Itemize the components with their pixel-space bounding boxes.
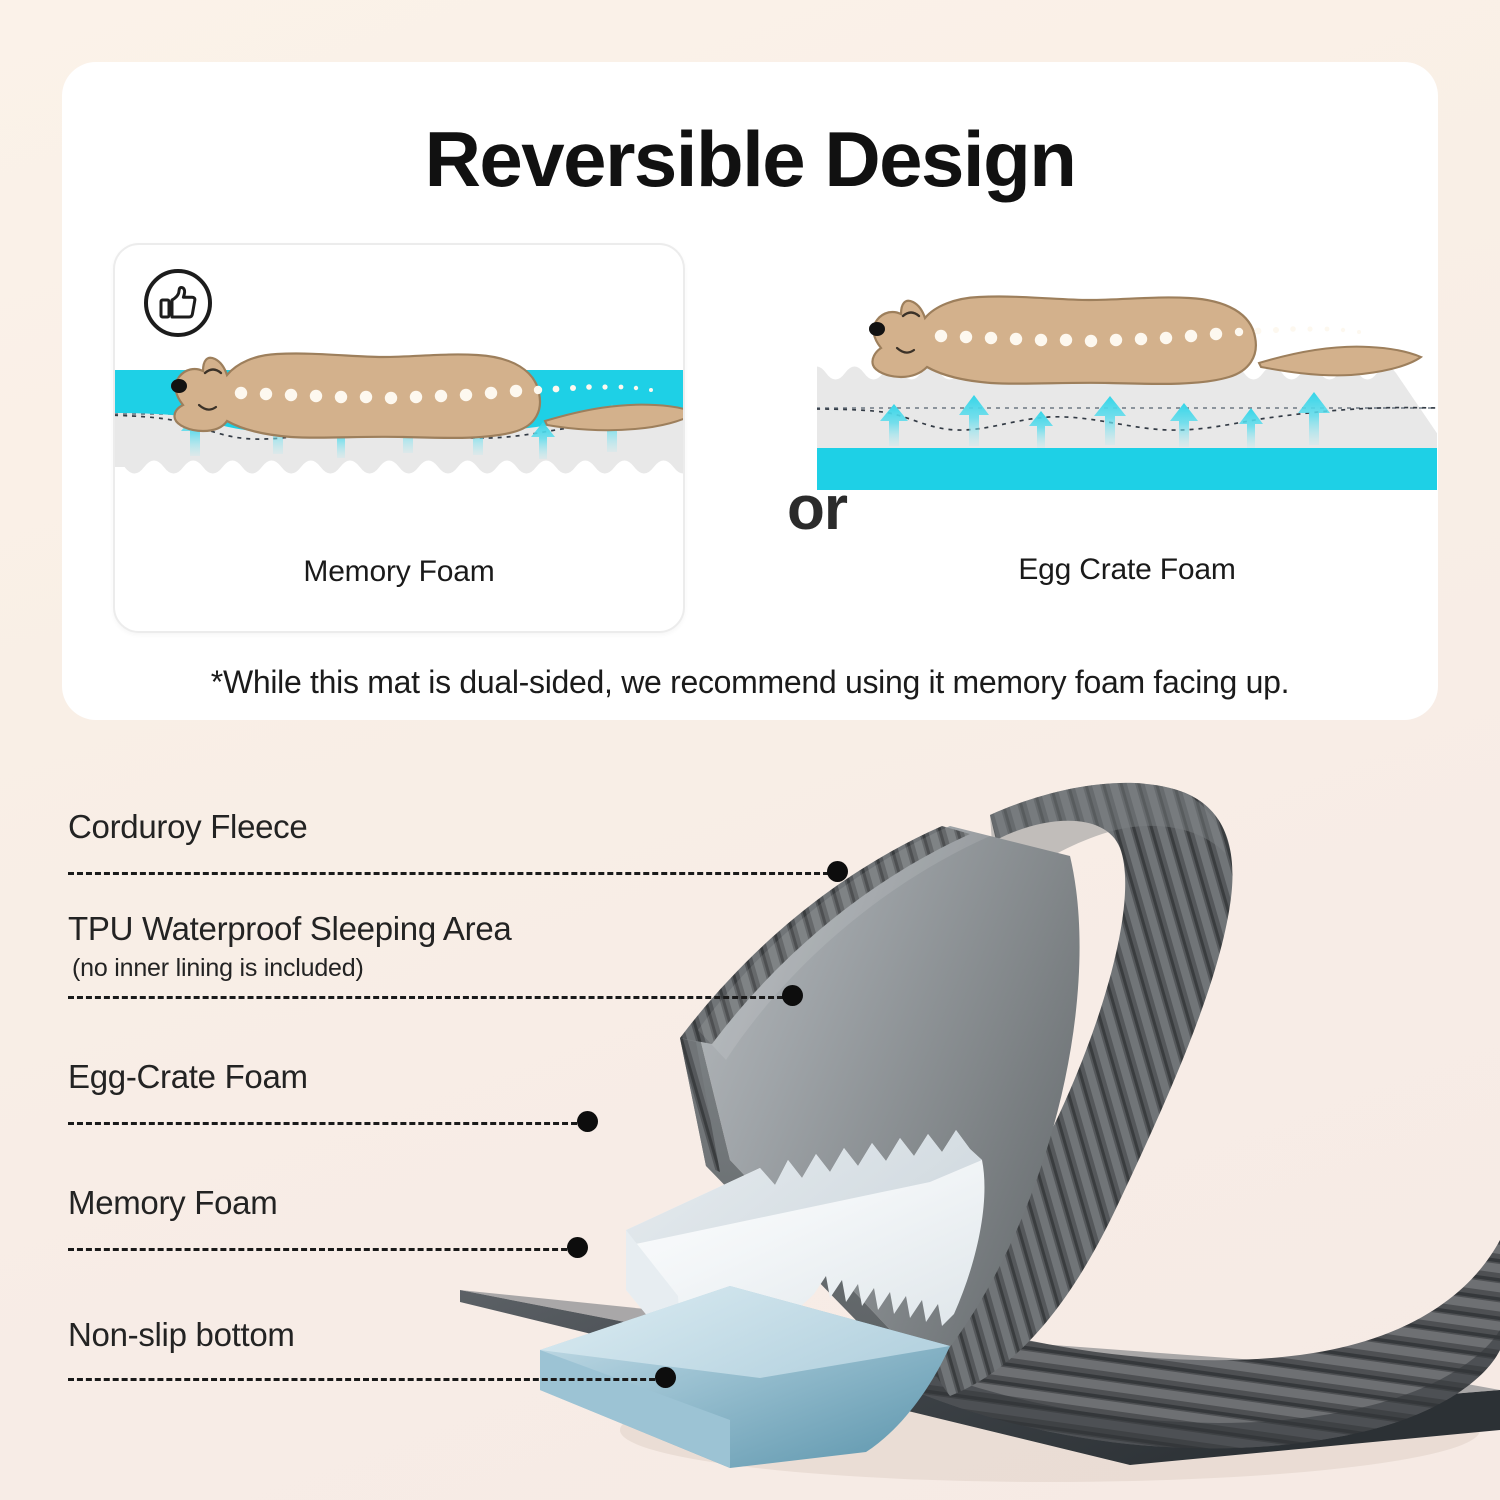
thumbs-up-icon [144,269,212,337]
exploded-view-labels: Corduroy Fleece TPU Waterproof Sleeping … [0,0,1500,1500]
layer-label-egg-crate-foam: Egg-Crate Foam [68,1058,308,1096]
leader-dot-tpu-waterproof [782,985,803,1006]
leader-dot-memory-foam [567,1237,588,1258]
layer-label-non-slip-bottom: Non-slip bottom [68,1316,295,1354]
leader-line-memory-foam [68,1248,576,1251]
leader-line-tpu-waterproof [68,996,792,999]
leader-line-egg-crate-foam [68,1122,586,1125]
layer-label-memory-foam: Memory Foam [68,1184,277,1222]
layer-sublabel-tpu-waterproof: (no inner lining is included) [72,954,364,983]
leader-dot-non-slip-bottom [655,1367,676,1388]
leader-line-non-slip-bottom [68,1378,664,1381]
layer-label-corduroy-fleece: Corduroy Fleece [68,808,307,846]
leader-dot-egg-crate-foam [577,1111,598,1132]
infographic-page: Reversible Design [0,0,1500,1500]
leader-dot-corduroy-fleece [827,861,848,882]
layer-label-tpu-waterproof: TPU Waterproof Sleeping Area [68,910,511,948]
leader-line-corduroy-fleece [68,872,838,875]
